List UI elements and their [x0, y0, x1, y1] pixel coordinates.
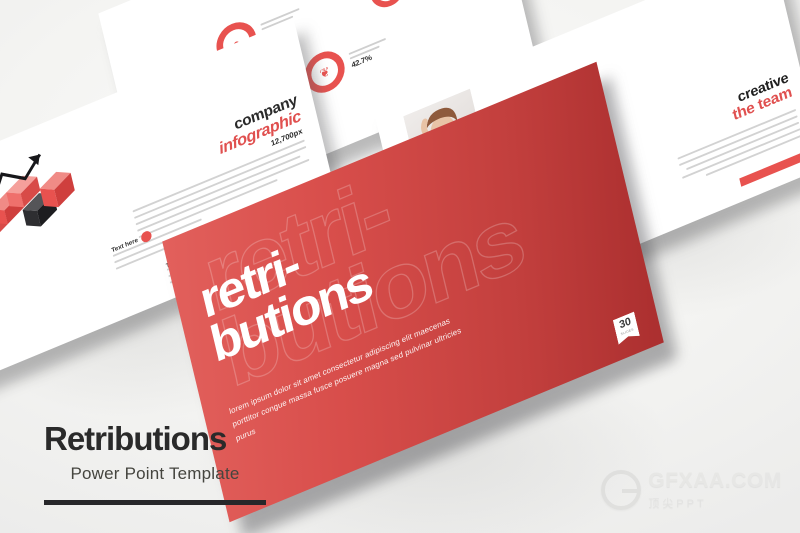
- watermark-domain: GFXAA.COM: [648, 469, 782, 493]
- slide-count-badge: 30 SLIDES: [613, 311, 640, 344]
- watermark: GFXAA.COM 顶尖PPT: [601, 469, 782, 511]
- page-subtitle: Power Point Template: [44, 464, 266, 484]
- isometric-bar-chart: [0, 126, 114, 288]
- gfxaa-logo-icon: [601, 470, 641, 510]
- mockup-stage: company infographic ✈ 80.5% ● 60.8% ❦: [0, 0, 800, 533]
- caption-block: Retributions Power Point Template: [44, 422, 266, 505]
- slide1-stat-3: ❦ 70.2%: [367, 0, 450, 13]
- page-title: Retributions: [44, 422, 266, 455]
- watermark-tagline: 顶尖PPT: [648, 495, 782, 511]
- bird-icon: ❦: [367, 0, 408, 13]
- caption-divider: [44, 500, 266, 505]
